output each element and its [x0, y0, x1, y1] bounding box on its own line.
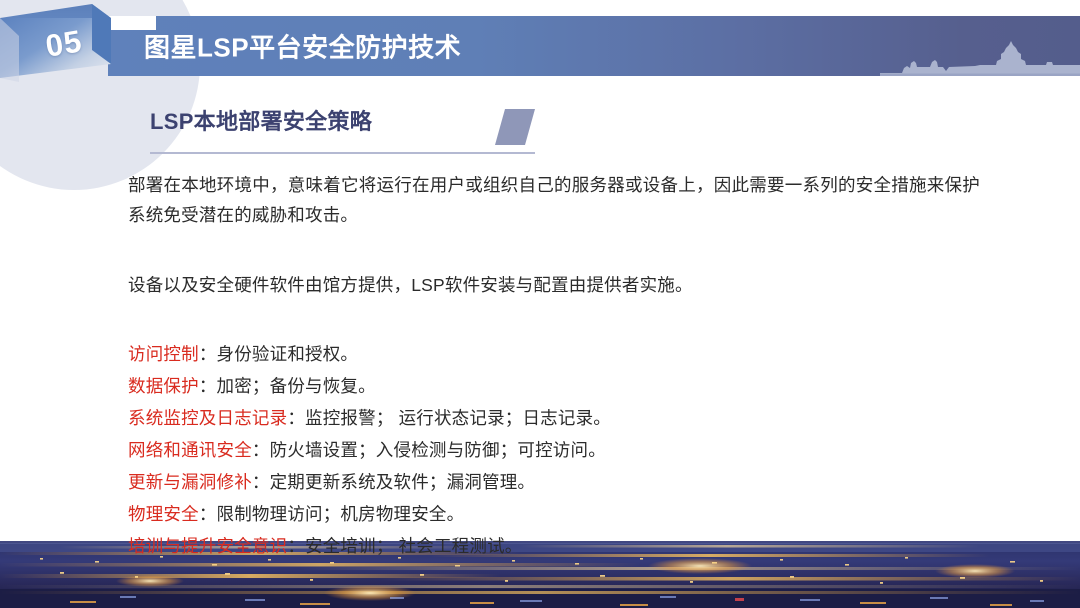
section-heading: LSP本地部署安全策略	[150, 104, 540, 136]
measure-separator: ：	[252, 440, 270, 460]
measure-label: 网络和通讯安全	[128, 440, 252, 460]
measure-description: 身份验证和授权。	[217, 344, 359, 364]
slide-number-badge: 05	[0, 4, 132, 96]
measure-label: 数据保护	[128, 376, 199, 396]
measure-label: 更新与漏洞修补	[128, 472, 252, 492]
slide-body: 部署在本地环境中，意味着它将运行在用户或组织自己的服务器或设备上，因此需要一系列…	[128, 170, 980, 562]
measure-separator: ：	[287, 536, 305, 556]
list-item: 访问控制：身份验证和授权。	[128, 338, 980, 370]
measure-separator: ：	[199, 504, 217, 524]
list-item: 物理安全：限制物理访问；机房物理安全。	[128, 498, 980, 530]
paragraph-spacer	[128, 230, 980, 270]
measure-description: 限制物理访问；机房物理安全。	[217, 504, 465, 524]
intro-paragraph-2: 设备以及安全硬件软件由馆方提供，LSP软件安装与配置由提供者实施。	[128, 270, 980, 300]
intro-paragraph-1: 部署在本地环境中，意味着它将运行在用户或组织自己的服务器或设备上，因此需要一系列…	[128, 170, 980, 230]
measure-separator: ：	[252, 472, 270, 492]
list-item: 更新与漏洞修补：定期更新系统及软件；漏洞管理。	[128, 466, 980, 498]
list-item: 网络和通讯安全：防火墙设置；入侵检测与防御；可控访问。	[128, 434, 980, 466]
list-item: 数据保护：加密；备份与恢复。	[128, 370, 980, 402]
slide-header-bar: 图星LSP平台安全防护技术	[108, 16, 1080, 76]
parallelogram-marker-icon	[495, 109, 535, 145]
measure-label: 系统监控及日志记录	[128, 408, 287, 428]
measure-separator: ：	[287, 408, 305, 428]
list-item: 系统监控及日志记录：监控报警； 运行状态记录；日志记录。	[128, 402, 980, 434]
measure-label: 访问控制	[128, 344, 199, 364]
security-measures-list: 访问控制：身份验证和授权。 数据保护：加密；备份与恢复。 系统监控及日志记录：监…	[128, 338, 980, 562]
section-divider	[150, 152, 535, 154]
measure-separator: ：	[199, 376, 217, 396]
header-title: 图星LSP平台安全防护技术	[144, 28, 461, 65]
section-title: LSP本地部署安全策略	[150, 104, 540, 136]
measure-label: 物理安全	[128, 504, 199, 524]
city-wall-pagoda-silhouette-icon	[880, 32, 1080, 76]
measure-description: 防火墙设置；入侵检测与防御；可控访问。	[270, 440, 606, 460]
measure-label: 培训与提升安全意识	[128, 536, 287, 556]
measure-description: 安全培训； 社会工程测试。	[305, 536, 522, 556]
measure-description: 定期更新系统及软件；漏洞管理。	[270, 472, 536, 492]
list-item: 培训与提升安全意识：安全培训； 社会工程测试。	[128, 530, 980, 562]
measure-description: 加密；备份与恢复。	[217, 376, 376, 396]
measure-separator: ：	[199, 344, 217, 364]
measure-description: 监控报警； 运行状态记录；日志记录。	[305, 408, 611, 428]
